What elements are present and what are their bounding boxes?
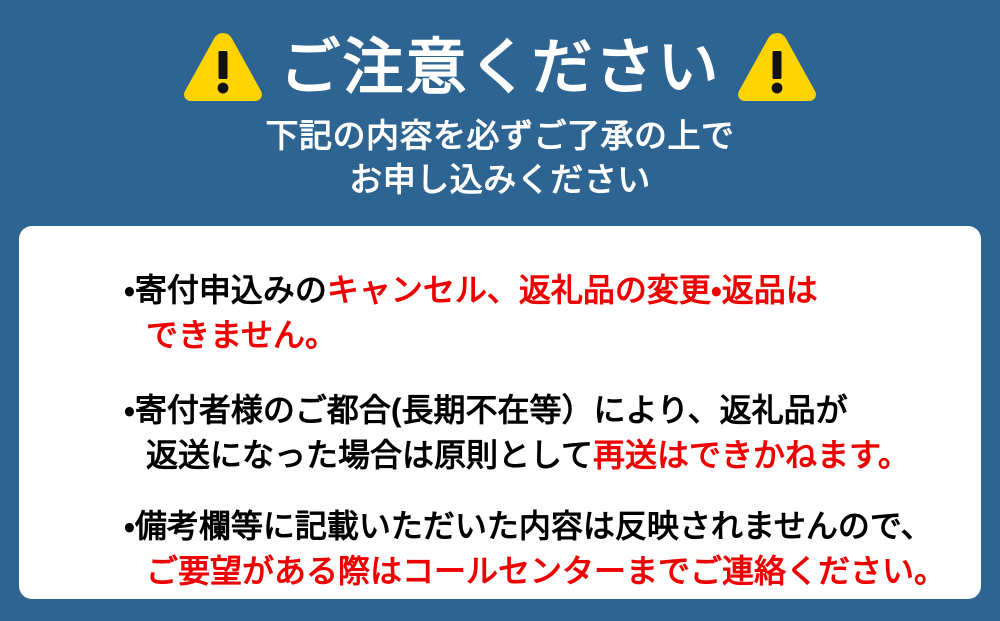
notice-text: 返送になった場合は原則として: [146, 437, 593, 473]
warning-banner: ご注意ください 下記の内容を必ずご了承の上で お申し込みください ・寄付申込みの…: [0, 0, 1000, 621]
banner-header: ご注意ください 下記の内容を必ずご了承の上で お申し込みください: [0, 0, 1000, 226]
notice-line: ・備考欄等に記載いただいた内容は反映されませんので、: [124, 504, 981, 549]
notice-text-emphasis: 再送はできかねます。: [593, 437, 910, 473]
notice-item: ・寄付申込みのキャンセル、返礼品の変更・返品はできません。: [19, 268, 981, 358]
notice-text-emphasis: ご要望がある際はコールセンターまでご連絡ください。: [146, 553, 946, 589]
notice-text: ・寄付者様のご都合(長期不在等）により、返礼品が: [124, 392, 848, 428]
notice-card: ・寄付申込みのキャンセル、返礼品の変更・返品はできません。・寄付者様のご都合(長…: [19, 226, 981, 599]
warning-triangle-icon: [735, 30, 819, 104]
notice-text: ・備考欄等に記載いただいた内容は反映されませんので、: [124, 508, 933, 544]
notice-line: ・寄付者様のご都合(長期不在等）により、返礼品が: [124, 388, 981, 433]
notice-text-emphasis: キャンセル、返礼品の変更・返品は: [327, 272, 818, 308]
page-title: ご注意ください: [279, 30, 720, 104]
notice-text-emphasis: できません。: [146, 317, 337, 353]
title-row: ご注意ください: [181, 26, 818, 108]
notice-line: ご要望がある際はコールセンターまでご連絡ください。: [124, 549, 981, 594]
warning-triangle-icon: [181, 30, 265, 104]
notice-line: 返送になった場合は原則として再送はできかねます。: [124, 433, 981, 478]
banner-subtitle-line-2: お申し込みください: [349, 158, 651, 202]
notice-item: ・備考欄等に記載いただいた内容は反映されませんので、ご要望がある際はコールセンタ…: [19, 504, 981, 594]
notice-item: ・寄付者様のご都合(長期不在等）により、返礼品が返送になった場合は原則として再送…: [19, 388, 981, 478]
notice-list: ・寄付申込みのキャンセル、返礼品の変更・返品はできません。・寄付者様のご都合(長…: [19, 268, 981, 594]
notice-text: ・寄付申込みの: [124, 272, 327, 308]
notice-line: ・寄付申込みのキャンセル、返礼品の変更・返品は: [124, 268, 981, 313]
notice-line: できません。: [124, 313, 981, 358]
banner-subtitle-line-1: 下記の内容を必ずご了承の上で: [266, 114, 735, 158]
